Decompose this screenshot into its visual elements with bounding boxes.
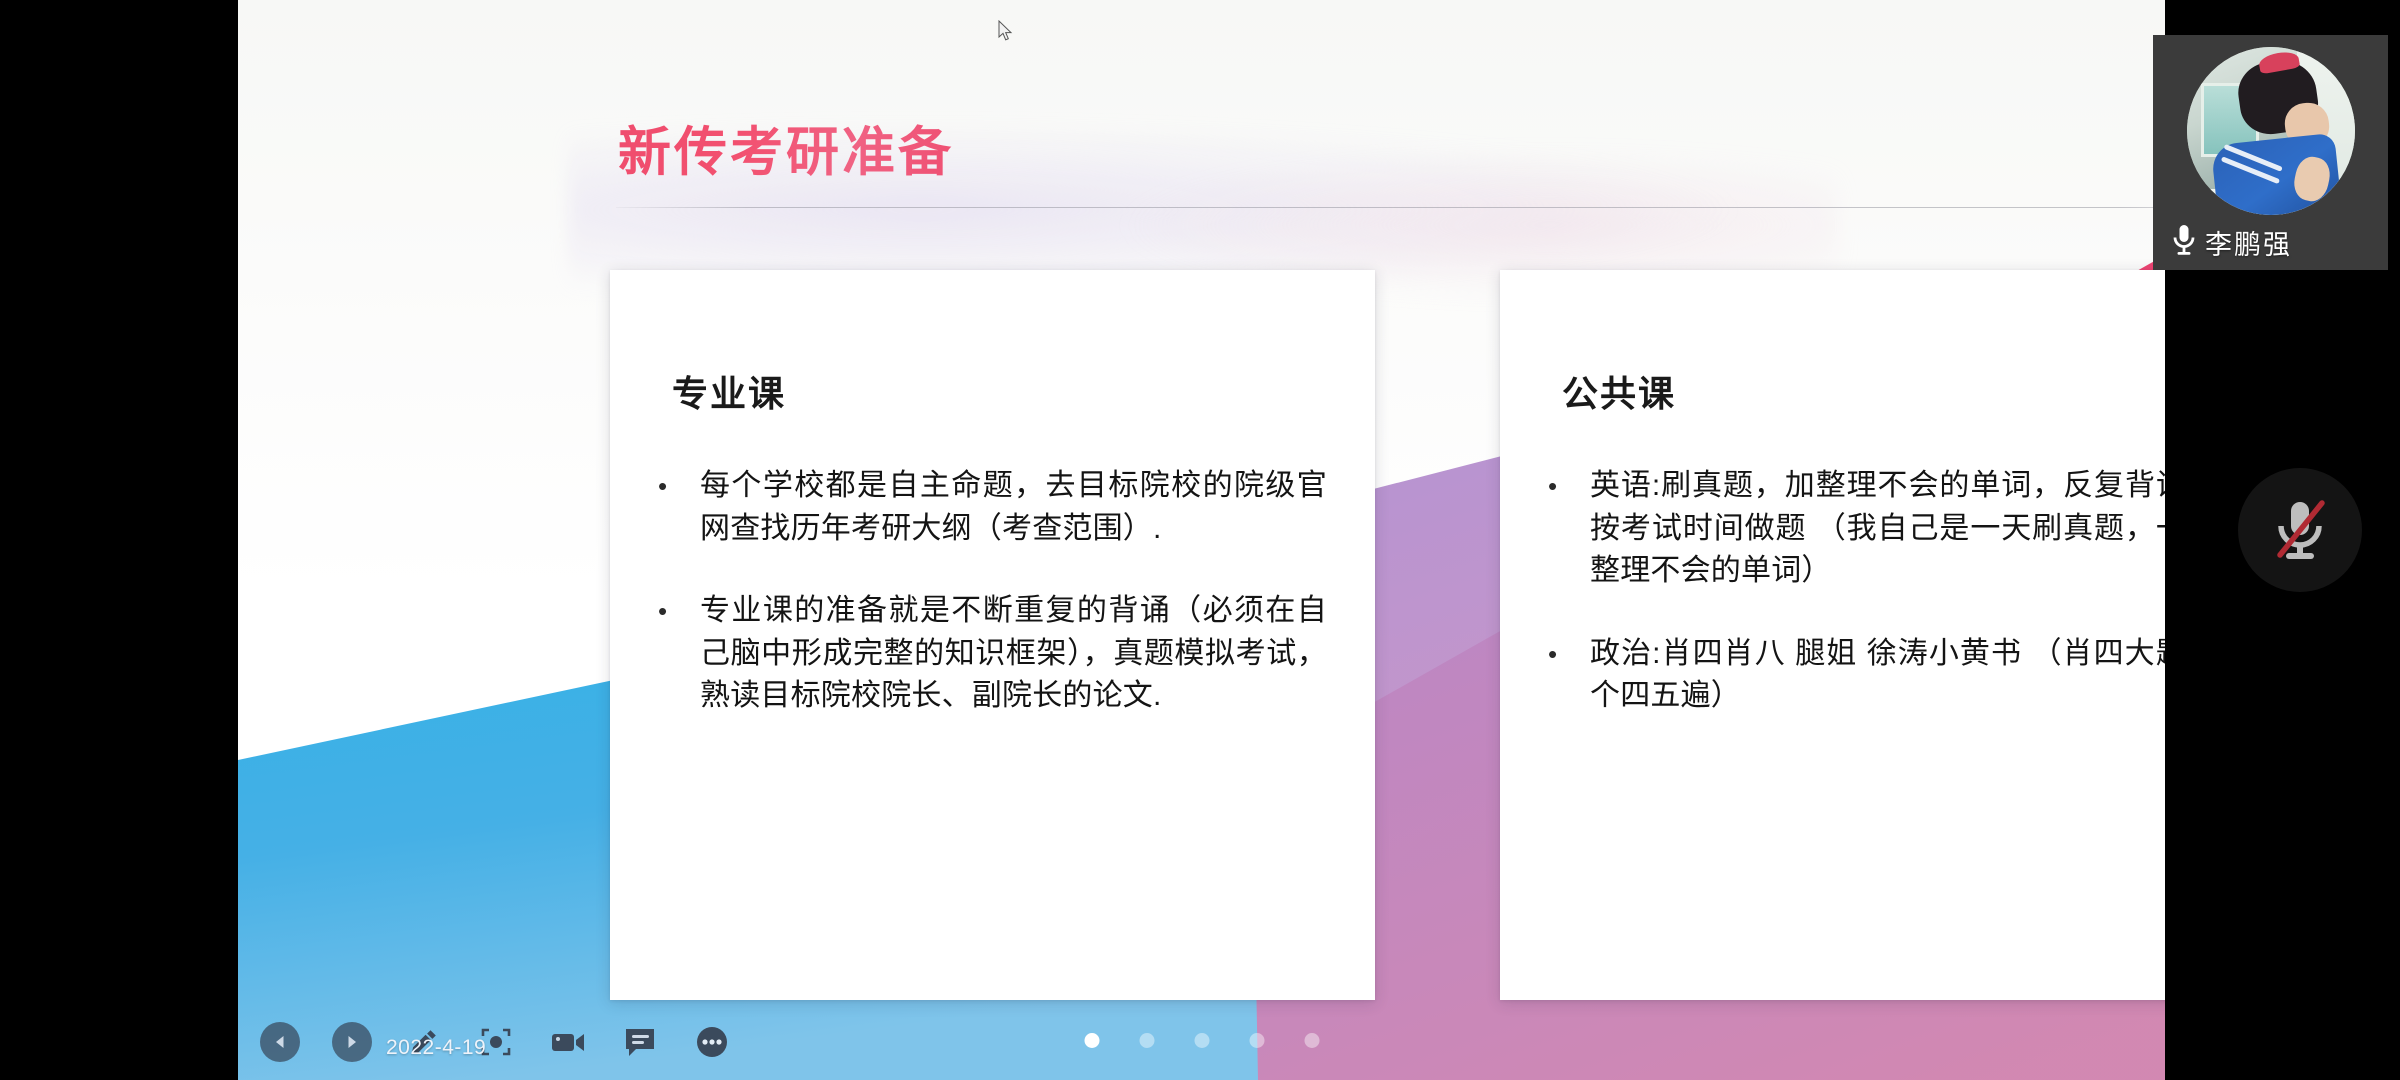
slide-date-label: 2022-4-19	[386, 1036, 486, 1060]
mute-toggle-button[interactable]	[2238, 468, 2362, 592]
microphone-icon	[2171, 223, 2197, 262]
previous-slide-button[interactable]	[260, 1022, 300, 1062]
letterbox-left	[0, 0, 238, 1080]
record-video-button[interactable]	[548, 1022, 588, 1062]
microphone-muted-icon	[2270, 497, 2330, 563]
shared-slide: 新传考研准备 专业课 • 每个学校都是自主命题，去目标院校的院级官网查找历年考研…	[238, 0, 2165, 1080]
meeting-screen: 新传考研准备 专业课 • 每个学校都是自主命题，去目标院校的院级官网查找历年考研…	[0, 0, 2400, 1080]
bullet-list-right: • 英语:刷真题，加整理不会的单词，反复背诵，按考试时间做题 （我自己是一天刷真…	[1548, 465, 2165, 758]
mouse-cursor-icon	[998, 20, 1014, 42]
bullet-text: 每个学校都是自主命题，去目标院校的院级官网查找历年考研大纲（考查范围）.	[700, 465, 1327, 550]
participant-video-tile[interactable]: 李鹏强	[2153, 35, 2388, 270]
bullet-text: 政治:肖四肖八 腿姐 徐涛小黄书 （肖四大题背个四五遍）	[1590, 633, 2165, 718]
pagination-dot-1[interactable]	[1084, 1033, 1099, 1048]
list-item: • 专业课的准备就是不断重复的背诵（必须在自己脑中形成完整的知识框架），真题模拟…	[658, 590, 1327, 718]
bullet-list-left: • 每个学校都是自主命题，去目标院校的院级官网查找历年考研大纲（考查范围）. •…	[658, 465, 1327, 758]
slide-pagination	[1084, 1033, 1319, 1048]
ellipsis-icon	[694, 1024, 730, 1060]
content-card-left: 专业课 • 每个学校都是自主命题，去目标院校的院级官网查找历年考研大纲（考查范围…	[610, 270, 1375, 1000]
pagination-dot-3[interactable]	[1194, 1033, 1209, 1048]
avatar	[2187, 47, 2355, 215]
triangle-right-icon	[332, 1022, 372, 1062]
card-heading-right: 公共课	[1562, 365, 1676, 417]
triangle-left-icon	[260, 1022, 300, 1062]
chat-bubble-icon	[623, 1026, 657, 1058]
list-item: • 每个学校都是自主命题，去目标院校的院级官网查找历年考研大纲（考查范围）.	[658, 465, 1327, 550]
list-item: • 英语:刷真题，加整理不会的单词，反复背诵，按考试时间做题 （我自己是一天刷真…	[1548, 465, 2165, 593]
next-slide-button[interactable]	[332, 1022, 372, 1062]
list-item: • 政治:肖四肖八 腿姐 徐涛小黄书 （肖四大题背个四五遍）	[1548, 633, 2165, 718]
title-divider	[616, 207, 2165, 208]
presentation-toolbar: 2022-4-19	[238, 1002, 2165, 1068]
content-card-right: 公共课 • 英语:刷真题，加整理不会的单词，反复背诵，按考试时间做题 （我自己是…	[1500, 270, 2165, 1000]
bullet-text: 英语:刷真题，加整理不会的单词，反复背诵，按考试时间做题 （我自己是一天刷真题，…	[1590, 465, 2165, 593]
participant-name: 李鹏强	[2205, 223, 2292, 262]
bullet-dot-icon: •	[658, 465, 700, 550]
video-camera-icon	[550, 1027, 586, 1057]
pagination-dot-2[interactable]	[1139, 1033, 1154, 1048]
pagination-dot-5[interactable]	[1304, 1033, 1319, 1048]
participant-namebar: 李鹏强	[2153, 223, 2388, 262]
chat-button[interactable]	[620, 1022, 660, 1062]
bullet-text: 专业课的准备就是不断重复的背诵（必须在自己脑中形成完整的知识框架），真题模拟考试…	[700, 590, 1327, 718]
bullet-dot-icon: •	[1548, 633, 1590, 718]
toolbar-buttons	[260, 1022, 732, 1062]
pagination-dot-4[interactable]	[1249, 1033, 1264, 1048]
more-options-button[interactable]	[692, 1022, 732, 1062]
bullet-dot-icon: •	[1548, 465, 1590, 593]
page-title: 新传考研准备	[618, 110, 954, 186]
card-heading-left: 专业课	[672, 365, 786, 417]
bullet-dot-icon: •	[658, 590, 700, 718]
